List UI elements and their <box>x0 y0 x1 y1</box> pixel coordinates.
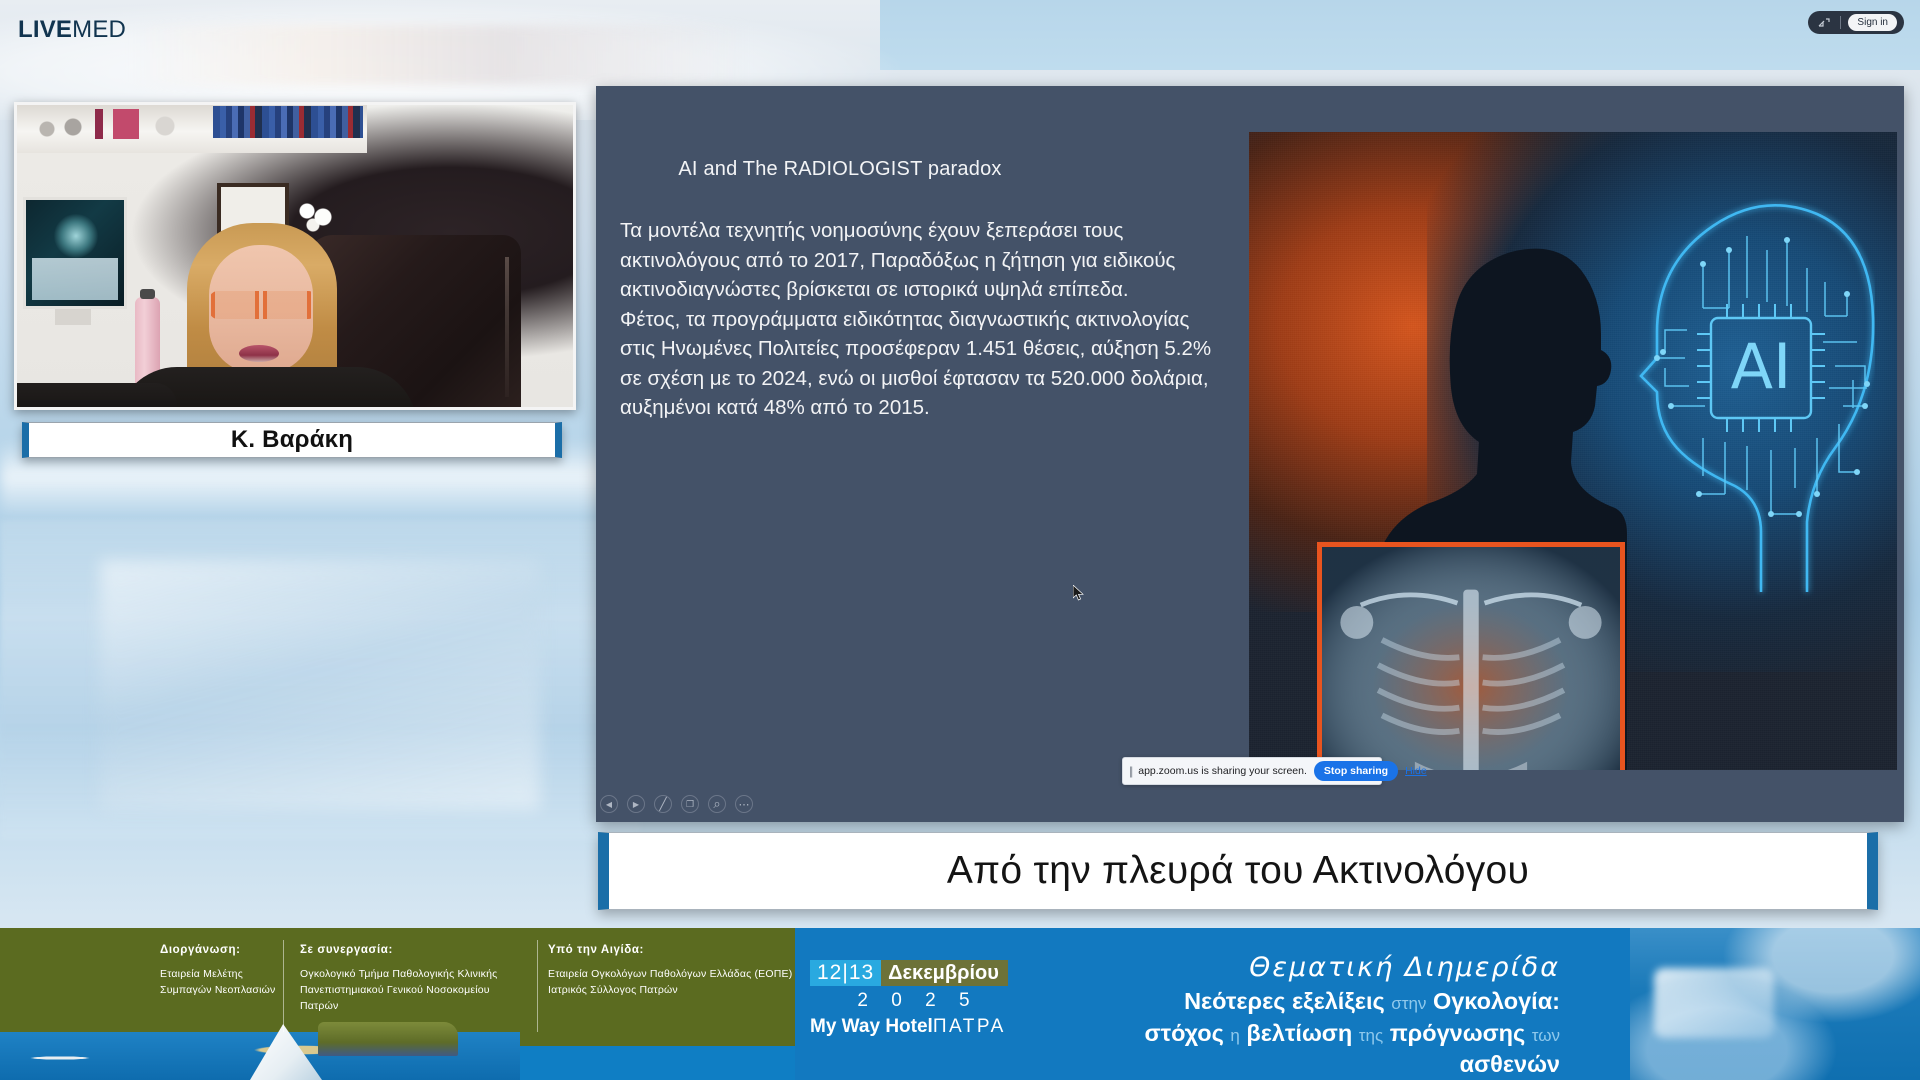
ai-brain-circuit-icon: AI <box>1585 180 1875 600</box>
speaker-glasses <box>209 291 317 319</box>
medical-scan-image <box>54 214 98 258</box>
title-l2-e: πρόγνωσης <box>1390 1020 1526 1046</box>
congress-month: Δεκεμβρίου <box>881 960 1008 986</box>
venue-city: ΠΑΤΡΑ <box>933 1016 1006 1037</box>
congress-date-block: 12|13 Δεκεμβρίου 2 0 2 5 My Way HotelΠΑΤ… <box>810 960 1008 1038</box>
speaker-name-bar: Κ. Βαράκη <box>22 422 562 458</box>
chest-xray-highlight-box <box>1317 542 1625 770</box>
venue-name: My Way Hotel <box>810 1016 933 1037</box>
collaboration-line-2: Πανεπιστημιακού Γενικού Νοσοκομείου Πατρ… <box>300 982 530 1014</box>
organizer-heading: Διοργάνωση: <box>160 944 280 956</box>
title-l2-d: της <box>1359 1026 1383 1045</box>
logo-bold-part: LIVE <box>18 16 72 43</box>
banner-right-photo <box>1630 928 1920 1080</box>
shelf-objects <box>35 109 210 139</box>
auspices-line-2: Ιατρικός Σύλλογος Πατρών <box>548 982 798 998</box>
pdf-viewer-toolbar[interactable]: ◀ ▶ ╱ ❐ ⌕ ⋯ <box>600 795 753 813</box>
slide-illustration: AI <box>1249 132 1897 770</box>
title-l2-c: βελτίωση <box>1246 1020 1352 1046</box>
collaboration-line-1: Ογκολογικό Τμήμα Παθολογικής Κλινικής <box>300 966 530 982</box>
auspices-line-1: Εταιρεία Ογκολόγων Παθολόγων Ελλάδας (ΕΟ… <box>548 966 798 982</box>
expand-icon[interactable] <box>1815 15 1833 31</box>
window-chrome-controls[interactable]: Sign in <box>1808 11 1904 34</box>
banner-divider-1 <box>283 940 284 1032</box>
title-l1-a: Νεότερες εξελίξεις <box>1184 988 1385 1014</box>
monitor-screen <box>23 197 127 309</box>
title-l2-a: στόχος <box>1145 1020 1224 1046</box>
orchid-flower <box>299 203 333 233</box>
banner-column-collaboration: Σε συνεργασία: Ογκολογικό Τμήμα Παθολογι… <box>300 944 530 1014</box>
title-l2-b: η <box>1230 1026 1239 1045</box>
congress-title-line-2: στόχος η βελτίωση της πρόγνωσης των ασθε… <box>1040 1019 1560 1079</box>
auspices-heading: Υπό την Αιγίδα: <box>548 944 798 956</box>
livemed-logo: LIVEMED <box>18 18 126 42</box>
organizer-line-1: Εταιρεία Μελέτης <box>160 966 280 982</box>
organizer-line-2: Συμπαγών Νεοπλασιών <box>160 982 280 998</box>
more-options-icon[interactable]: ⋯ <box>735 795 753 813</box>
chest-xray-image <box>1322 547 1620 770</box>
drag-handle-icon[interactable]: || <box>1129 764 1131 778</box>
title-l1-c: Ογκολογία: <box>1433 988 1560 1014</box>
monitor-stand <box>55 309 91 325</box>
previous-page-icon[interactable]: ◀ <box>600 795 618 813</box>
congress-title-line-1: Νεότερες εξελίξεις στην Ογκολογία: <box>1040 987 1560 1018</box>
banner-column-auspices: Υπό την Αιγίδα: Εταιρεία Ογκολόγων Παθολ… <box>548 944 798 998</box>
shelf-books <box>213 106 363 138</box>
sign-in-button[interactable]: Sign in <box>1848 14 1897 31</box>
logo-light-part: MED <box>72 16 126 43</box>
stop-sharing-button[interactable]: Stop sharing <box>1314 761 1398 781</box>
congress-venue: My Way HotelΠΑΤΡΑ <box>810 1016 1008 1038</box>
hide-link[interactable]: Hide <box>1405 765 1427 777</box>
share-message: app.zoom.us is sharing your screen. <box>1138 765 1307 777</box>
session-title-label: Από την πλευρά του Ακτινολόγου <box>947 849 1529 893</box>
banner-divider-2 <box>537 940 538 1032</box>
ai-chip-label: AI <box>1731 330 1792 403</box>
congress-year: 2 0 2 5 <box>810 990 1008 1012</box>
background-cloud-streak <box>130 25 750 85</box>
screen-share-notification-bar[interactable]: || app.zoom.us is sharing your screen. S… <box>1122 757 1382 785</box>
slide-body-text: Τα μοντέλα τεχνητής νοημοσύνης έχουν ξεπ… <box>620 216 1216 423</box>
title-l1-b: στην <box>1391 994 1426 1013</box>
screen-root: LIVEMED Κ. Βαράκη <box>0 0 1920 1080</box>
background-wave <box>100 560 540 810</box>
background-shelf <box>17 105 367 153</box>
slide-title: AI and The RADIOLOGIST paradox <box>620 158 1060 181</box>
congress-days: 12|13 <box>810 960 881 986</box>
speaker-arm <box>17 383 177 410</box>
pen-annotate-icon[interactable]: ╱ <box>654 795 672 813</box>
speaker-name-label: Κ. Βαράκη <box>231 426 353 454</box>
congress-date-row: 12|13 Δεκεμβρίου <box>810 960 1008 986</box>
next-page-icon[interactable]: ▶ <box>627 795 645 813</box>
collaboration-heading: Σε συνεργασία: <box>300 944 530 956</box>
banner-column-organizer: Διοργάνωση: Εταιρεία Μελέτης Συμπαγών Νε… <box>160 944 280 998</box>
chrome-divider <box>1840 16 1841 29</box>
background-sky-band <box>880 0 1920 70</box>
mouse-pointer <box>1073 585 1084 601</box>
session-title-bar: Από την πλευρά του Ακτινολόγου <box>598 832 1878 910</box>
speaker-mouth <box>239 345 279 362</box>
congress-subtitle-script: Θεματική Διημερίδα <box>1040 952 1560 983</box>
title-l2-f: των <box>1532 1026 1560 1045</box>
speaker-video-tile[interactable] <box>14 102 576 410</box>
title-l2-g: ασθενών <box>1460 1051 1560 1077</box>
speaker-video-feed <box>17 105 573 407</box>
copy-icon[interactable]: ❐ <box>681 795 699 813</box>
congress-title-block: Θεματική Διημερίδα Νεότερες εξελίξεις στ… <box>1040 952 1560 1079</box>
zoom-search-icon[interactable]: ⌕ <box>708 795 726 813</box>
banner-island <box>318 1022 458 1056</box>
